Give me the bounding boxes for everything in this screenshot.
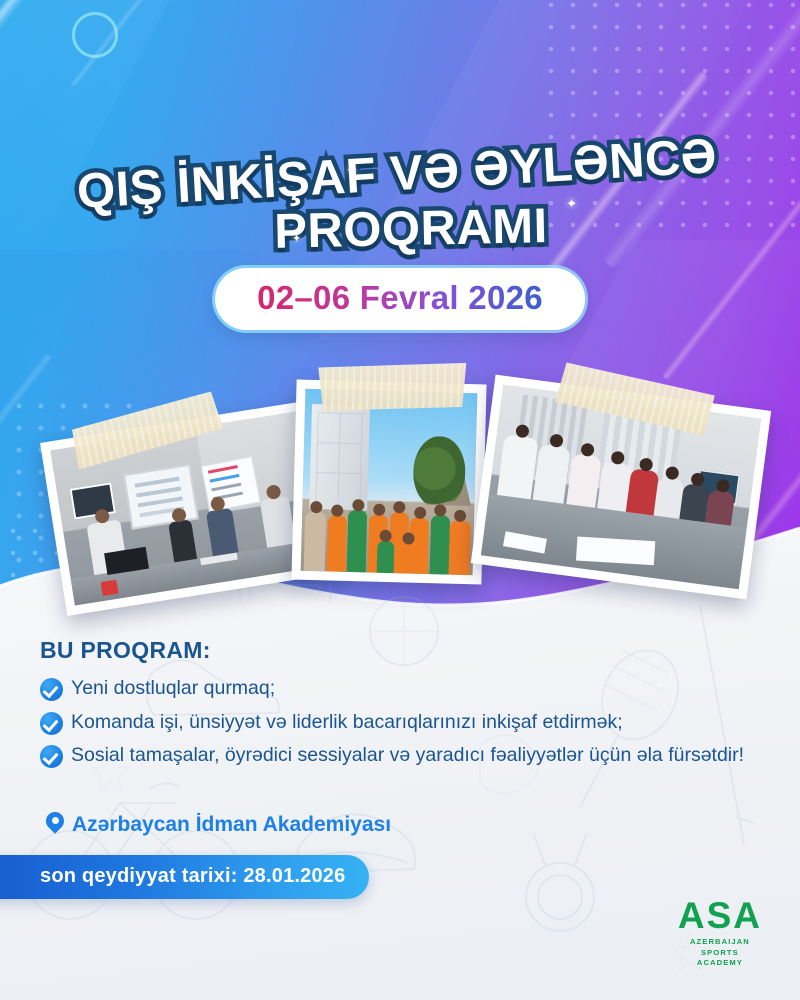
asa-logo: ASA AZERBAIJAN SPORTS ACADEMY [678, 897, 762, 968]
poster-root: QIŞ İNKİŞAF VƏ ƏYLƏNCƏ PROQRAMI ✦ ✦ ✦ 02… [0, 0, 800, 1000]
check-circle-icon [40, 745, 63, 768]
venue-line: Azərbaycan İdman Akademiyası [46, 812, 391, 837]
check-circle-icon [40, 712, 63, 735]
asa-logo-line-2: SPORTS [678, 948, 762, 958]
check-circle-icon [40, 678, 63, 701]
list-item: Komanda işi, ünsiyyət və liderlik bacarı… [40, 709, 770, 737]
list-item-label: Komanda işi, ünsiyyət və liderlik bacarı… [71, 709, 623, 737]
list-item-label: Yeni dostluqlar qurmaq; [71, 675, 275, 703]
registration-deadline-banner: son qeydiyyat tarixi: 28.01.2026 [0, 855, 369, 899]
asa-logo-line-1: AZERBAIJAN [678, 937, 762, 947]
asa-logo-line-3: ACADEMY [678, 958, 762, 968]
section-heading: BU PROQRAM: [40, 637, 211, 664]
poster-content: BU PROQRAM: Yeni dostluqlar qurmaq; Koma… [0, 0, 800, 1000]
list-item: Sosial tamaşalar, öyrədici sessiyalar və… [40, 742, 770, 770]
location-pin-icon [46, 812, 64, 837]
asa-logo-subtitle: AZERBAIJAN SPORTS ACADEMY [678, 937, 762, 968]
venue-label: Azərbaycan İdman Akademiyası [72, 813, 391, 837]
list-item-label: Sosial tamaşalar, öyrədici sessiyalar və… [71, 742, 744, 770]
benefits-list: Yeni dostluqlar qurmaq; Komanda işi, üns… [40, 675, 770, 776]
list-item: Yeni dostluqlar qurmaq; [40, 675, 770, 703]
asa-logo-mark: ASA [678, 897, 762, 934]
registration-deadline-label: son qeydiyyat tarixi: 28.01.2026 [40, 865, 345, 887]
